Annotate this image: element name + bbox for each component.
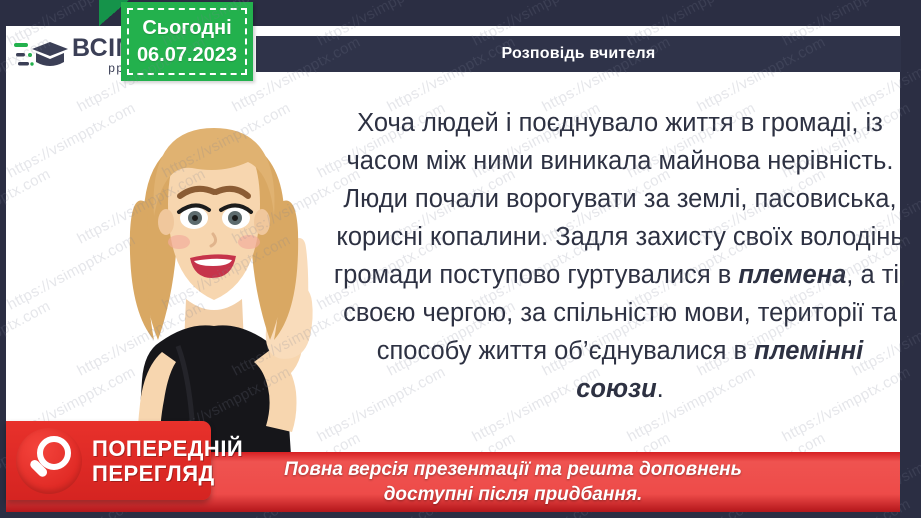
graduation-cap-icon — [14, 35, 70, 75]
section-header-bar: Розповідь вчителя — [256, 36, 901, 72]
magnifier-icon — [16, 428, 82, 494]
preview-badge-text: ПОПЕРЕДНІЙ ПЕРЕГЛЯД — [92, 436, 243, 486]
section-title: Розповідь вчителя — [502, 45, 656, 63]
today-date: 06.07.2023 — [137, 42, 237, 69]
presentation-slide: ВСІМ pptx Сьогодні 06.07.2023 Розповідь … — [0, 0, 921, 518]
slide-body-text: Хоча людей і поєднувало життя в громаді,… — [330, 104, 910, 408]
banner-line-1: Повна версія презентації та решта доповн… — [284, 457, 742, 482]
today-date-badge: Сьогодні 06.07.2023 — [121, 2, 253, 81]
banner-line-2: доступні після придбання. — [384, 482, 643, 507]
teacher-character-illustration — [86, 84, 342, 470]
today-label: Сьогодні — [142, 15, 231, 42]
preview-badge-line-1: ПОПЕРЕДНІЙ — [92, 436, 243, 461]
preview-badge: ПОПЕРЕДНІЙ ПЕРЕГЛЯД — [6, 421, 211, 500]
preview-badge-line-2: ПЕРЕГЛЯД — [92, 461, 243, 486]
